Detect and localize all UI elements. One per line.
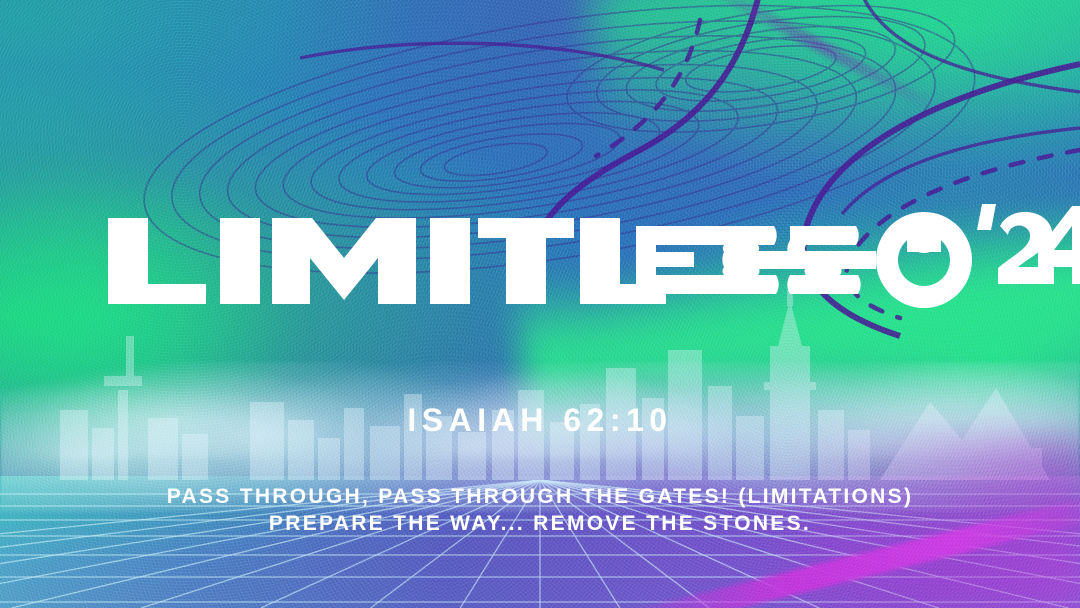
verse-line-1: PASS THROUGH, PASS THROUGH THE GATES! (L… <box>167 485 914 508</box>
key-shaft <box>726 251 876 269</box>
verse-reference: ISAIAH 62:10 <box>0 404 1080 436</box>
year-mark <box>977 204 1080 284</box>
title-lockup <box>0 196 1080 322</box>
slide-canvas: ISAIAH 62:10 PASS THROUGH, PASS THROUGH … <box>0 0 1080 608</box>
verse-line-2: PREPARE THE WAY... REMOVE THE STONES. <box>0 510 1080 537</box>
verse-body: PASS THROUGH, PASS THROUGH THE GATES! (L… <box>0 483 1080 537</box>
key-icon <box>876 212 972 308</box>
chain-link-e <box>636 226 710 294</box>
